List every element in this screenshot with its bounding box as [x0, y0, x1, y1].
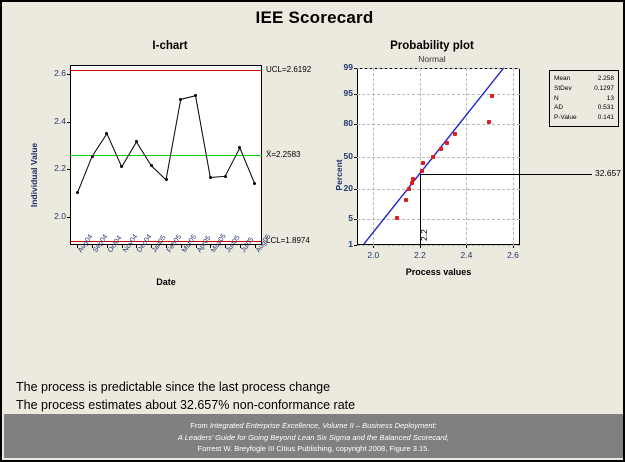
- stat-name: Mean: [554, 74, 580, 84]
- probability-plot-data-point: [439, 147, 443, 151]
- process-statements: The process is predictable since the las…: [16, 378, 596, 414]
- stat-value: 0.531: [598, 103, 614, 113]
- probability-plot-y-tick-mark: [354, 189, 357, 190]
- probability-plot-y-tick-label: 20: [319, 183, 353, 193]
- stat-row: P-Value0.141: [554, 113, 614, 123]
- probability-plot-y-tick-label: 50: [319, 151, 353, 161]
- i-chart-reference-label-ucl: UCL=2.6192: [266, 65, 311, 74]
- probability-plot-data-point: [407, 187, 411, 191]
- probability-plot-y-tick-label: 1: [319, 239, 353, 249]
- probability-plot-data-point: [453, 132, 457, 136]
- i-chart-y-tick-label: 2.0: [26, 211, 66, 221]
- statement-predictability: The process is predictable since the las…: [16, 378, 596, 396]
- probability-plot-panel: Probability plot Normal Percent 2.02.22.…: [327, 40, 625, 290]
- footer-line-2-emphasis: A Leaders’ Guide for Going Beyond Lean S…: [178, 433, 449, 442]
- probability-plot-y-tick-mark: [354, 157, 357, 158]
- probability-plot-gridline-horizontal: [357, 245, 520, 246]
- probability-plot-x-tick-label: 2.4: [452, 250, 480, 260]
- stat-row: N13: [554, 94, 614, 104]
- statement-nonconformance: The process estimates about 32.657% non-…: [16, 396, 596, 414]
- stat-row: Mean2.258: [554, 74, 614, 84]
- i-chart-title: I-chart: [20, 40, 320, 52]
- probability-plot-data-point: [490, 94, 494, 98]
- probability-plot-data-point: [487, 120, 491, 124]
- stat-value: 13: [607, 94, 614, 104]
- stat-value: 2.258: [598, 74, 614, 84]
- i-chart-reference-label-lcl: LCL=1.8974: [266, 236, 310, 245]
- i-chart-y-tick-mark: [67, 169, 70, 170]
- probability-plot-data-point: [445, 141, 449, 145]
- probability-plot-y-tick-label: 95: [319, 88, 353, 98]
- stat-name: N: [554, 94, 569, 104]
- probability-plot-y-tick-mark: [354, 124, 357, 125]
- probability-plot-stats-box: Mean2.258StDev0.1297N13AD0.531P-Value0.1…: [549, 70, 619, 127]
- probability-plot-gridline-horizontal: [357, 219, 520, 220]
- i-chart-y-tick-label: 2.4: [26, 116, 66, 126]
- probability-plot-x-tick-label: 2.0: [359, 250, 387, 260]
- i-chart-data-point: [91, 155, 94, 158]
- probability-plot-y-tick-label: 99: [319, 62, 353, 72]
- i-chart-x-axis-label: Date: [70, 277, 262, 287]
- probability-plot-y-tick-mark: [354, 68, 357, 69]
- source-footer: From Integrated Enterprise Excellence, V…: [4, 414, 623, 458]
- i-chart-y-tick-mark: [67, 74, 70, 75]
- i-chart-panel: I-chart Individual Value 2.02.22.42.6UCL…: [20, 40, 320, 290]
- i-chart-data-point: [209, 176, 212, 179]
- probability-plot-y-tick-mark: [354, 219, 357, 220]
- probability-plot-y-axis-label: Percent: [334, 125, 344, 225]
- probability-plot-x-tick-label: 2.2: [406, 250, 434, 260]
- probability-plot-title: Probability plot: [297, 40, 567, 52]
- probability-plot-data-point: [395, 216, 399, 220]
- probability-plot-x-axis-label: Process values: [357, 267, 520, 277]
- footer-line-1-emphasis: Integrated Enterprise Excellence, Volume…: [210, 421, 437, 430]
- stat-name: StDev: [554, 84, 582, 94]
- scorecard-page: IEE Scorecard I-chart Individual Value 2…: [0, 0, 625, 462]
- probability-plot-annotation-hline: [420, 174, 592, 175]
- stat-row: AD0.531: [554, 103, 614, 113]
- probability-plot-data-point: [420, 169, 424, 173]
- stat-name: AD: [554, 103, 573, 113]
- i-chart-data-point: [224, 175, 227, 178]
- probability-plot-data-point: [410, 181, 414, 185]
- i-chart-y-tick-label: 2.6: [26, 68, 66, 78]
- page-title: IEE Scorecard: [2, 8, 625, 28]
- i-chart-y-tick-label: 2.2: [26, 163, 66, 173]
- stat-name: P-Value: [554, 113, 587, 123]
- i-chart-data-point: [253, 182, 256, 185]
- i-chart-y-tick-mark: [67, 122, 70, 123]
- i-chart-reference-line-ucl: [70, 70, 262, 71]
- probability-plot-x-tick-label: 2.6: [499, 250, 527, 260]
- footer-line-3: Forrest W. Breyfogle III Citius Publishi…: [4, 443, 623, 455]
- i-chart-y-tick-mark: [67, 217, 70, 218]
- probability-plot-y-tick-label: 80: [319, 118, 353, 128]
- probability-plot-data-point: [431, 155, 435, 159]
- probability-plot-gridline-horizontal: [357, 94, 520, 95]
- stat-row: StDev0.1297: [554, 84, 614, 94]
- probability-plot-gridline-horizontal: [357, 124, 520, 125]
- stat-value: 0.1297: [594, 84, 614, 94]
- probability-plot-y-tick-mark: [354, 94, 357, 95]
- probability-plot-data-point: [411, 177, 415, 181]
- probability-plot-data-point: [404, 198, 408, 202]
- probability-plot-annotation-value: 32.657: [595, 168, 621, 178]
- probability-plot-data-point: [421, 161, 425, 165]
- probability-plot-gridline-horizontal: [357, 189, 520, 190]
- probability-plot-reference-value: 2.2: [419, 229, 429, 241]
- footer-line-1-prefix: From: [190, 421, 210, 430]
- i-chart-reference-label-center: X̄=2.2583: [266, 150, 300, 159]
- probability-plot-gridline-horizontal: [357, 68, 520, 69]
- stat-value: 0.141: [598, 113, 614, 123]
- probability-plot-y-tick-mark: [354, 245, 357, 246]
- i-chart-data-point: [150, 164, 153, 167]
- i-chart-reference-line-center: [70, 155, 262, 156]
- probability-plot-y-tick-label: 5: [319, 213, 353, 223]
- probability-plot-gridline-horizontal: [357, 157, 520, 158]
- footer-line-2: A Leaders’ Guide for Going Beyond Lean S…: [4, 432, 623, 444]
- footer-line-1: From Integrated Enterprise Excellence, V…: [4, 420, 623, 432]
